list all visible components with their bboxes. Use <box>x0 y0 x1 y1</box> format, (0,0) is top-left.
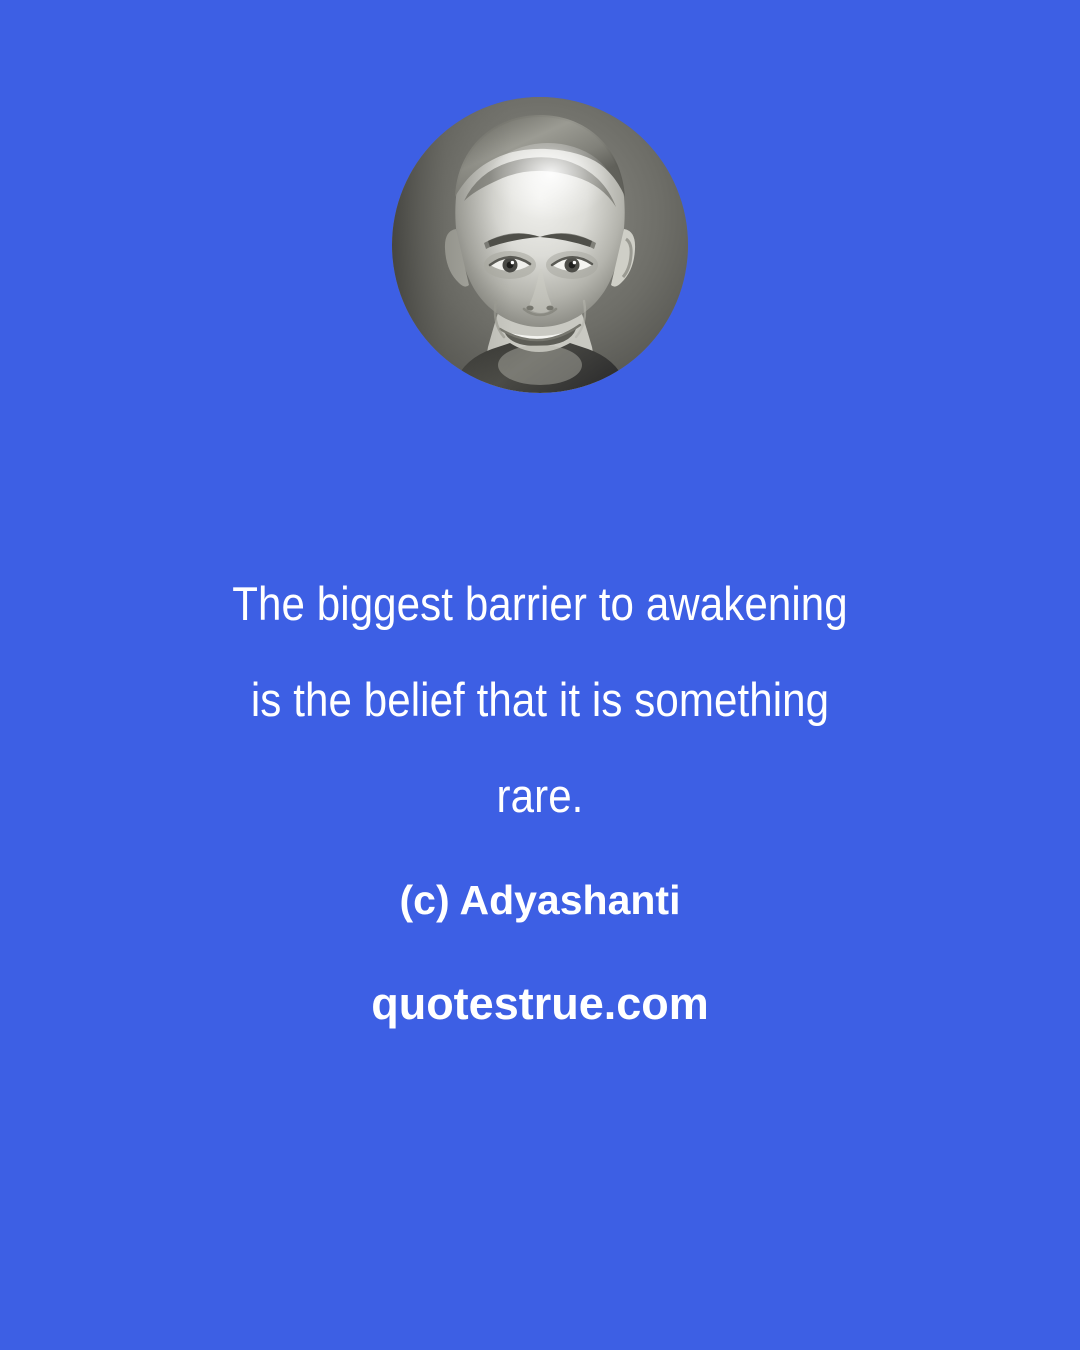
quote-line-2: is the belief that it is something <box>57 652 1024 748</box>
quote-attribution: (c) Adyashanti <box>0 852 1080 948</box>
author-portrait-photo <box>392 97 688 393</box>
quote-line-1: The biggest barrier to awakening <box>57 556 1024 652</box>
quote-card: The biggest barrier to awakening is the … <box>0 0 1080 1350</box>
quote-line-3: rare. <box>57 748 1024 844</box>
source-site-label: quotestrue.com <box>0 956 1080 1052</box>
quote-text-block: The biggest barrier to awakening is the … <box>0 556 1080 1052</box>
portrait-illustration <box>392 97 688 393</box>
